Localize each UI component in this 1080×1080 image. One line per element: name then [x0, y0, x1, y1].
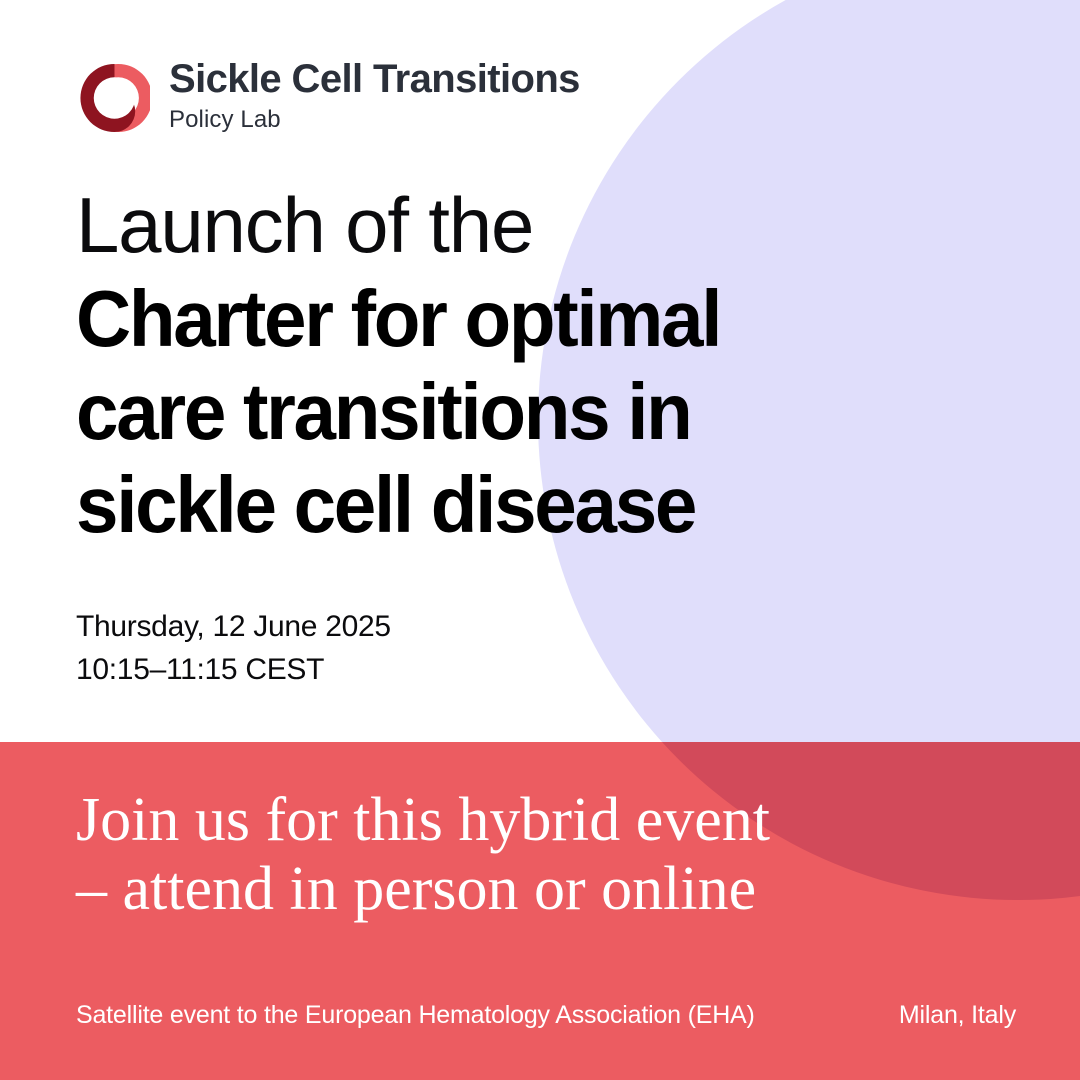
- banner-line-2: – attend in person or online: [76, 855, 976, 924]
- banner-headline-block: Join us for this hybrid event – attend i…: [76, 786, 976, 925]
- banner-footer: Satellite event to the European Hematolo…: [76, 1000, 1016, 1030]
- brand-title: Sickle Cell Transitions: [169, 58, 580, 100]
- headline-line-3: sickle cell disease: [76, 459, 936, 552]
- event-date: Thursday, 12 June 2025: [76, 606, 391, 649]
- event-datetime-block: Thursday, 12 June 2025 10:15–11:15 CEST: [76, 606, 391, 691]
- brand-logo: Sickle Cell Transitions Policy Lab: [76, 58, 580, 135]
- headline-line-1: Charter for optimal: [76, 273, 936, 366]
- event-announcement-poster: Sickle Cell Transitions Policy Lab Launc…: [0, 0, 1080, 1080]
- headline-main: Charter for optimal care transitions in …: [76, 273, 976, 551]
- footer-satellite-event: Satellite event to the European Hematolo…: [76, 1000, 755, 1030]
- footer-location: Milan, Italy: [899, 1000, 1016, 1030]
- brand-subtitle: Policy Lab: [169, 107, 580, 133]
- sickle-cell-crescent-logo-icon: [76, 61, 150, 135]
- banner-line-1: Join us for this hybrid event: [76, 786, 976, 855]
- brand-logo-text: Sickle Cell Transitions Policy Lab: [169, 58, 580, 133]
- headline-kicker: Launch of the: [76, 183, 976, 267]
- headline-block: Launch of the Charter for optimal care t…: [76, 183, 976, 552]
- event-time: 10:15–11:15 CEST: [76, 649, 391, 692]
- headline-line-2: care transitions in: [76, 366, 936, 459]
